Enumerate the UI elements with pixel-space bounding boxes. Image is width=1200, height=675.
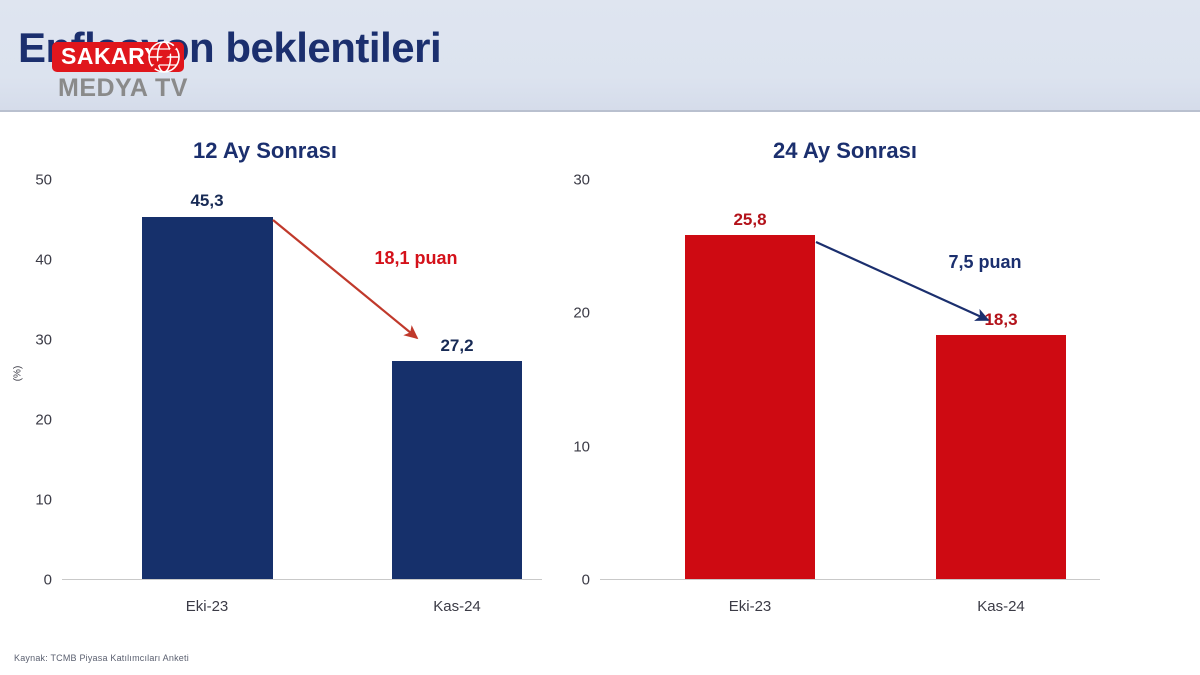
globe-icon: [144, 38, 184, 78]
x-axis-line-right: [600, 579, 1100, 580]
x-tick-eki-23-left: Eki-23: [186, 598, 229, 615]
delta-label-right: 7,5 puan: [948, 252, 1021, 273]
charts-container: 12 Ay Sonrası (%) 0 10 20 30 40 50 45,3 …: [0, 112, 1200, 642]
x-tick-kas-24-left: Kas-24: [433, 598, 481, 615]
bar-kas-24-right[interactable]: [936, 335, 1066, 579]
y-tick-label: 30: [573, 172, 590, 189]
x-tick-eki-23-right: Eki-23: [729, 598, 772, 615]
y-tick-label: 20: [573, 305, 590, 322]
delta-label-left: 18,1 puan: [374, 248, 457, 269]
bar-eki-23-right[interactable]: [685, 235, 815, 579]
x-axis-line-left: [62, 579, 542, 580]
bar-kas-24-left[interactable]: [392, 361, 522, 579]
bar-value-eki-23-left: 45,3: [190, 191, 223, 211]
watermark-subtitle: MEDYA TV: [58, 76, 188, 101]
y-tick-label: 0: [44, 572, 52, 589]
bar-value-kas-24-left: 27,2: [440, 336, 473, 356]
chart-title-left: 12 Ay Sonrası: [0, 138, 580, 164]
source-footnote: Kaynak: TCMB Piyasa Katılımcıları Anketi: [14, 653, 189, 663]
chart-title-right: 24 Ay Sonrası: [580, 138, 1200, 164]
y-tick-label: 30: [35, 332, 52, 349]
y-tick-label: 10: [35, 492, 52, 509]
bar-eki-23-left[interactable]: [142, 217, 273, 579]
plot-area-left: (%) 0 10 20 30 40 50 45,3 27,2 Eki-23 Ka…: [62, 180, 542, 580]
x-tick-kas-24-right: Kas-24: [977, 598, 1025, 615]
chart-panel-24-ay: 24 Ay Sonrası 0 10 20 30 25,8 18,3 Eki-2…: [580, 112, 1200, 642]
y-axis-unit-left: (%): [12, 366, 23, 382]
y-tick-label: 40: [35, 252, 52, 269]
y-tick-label: 0: [582, 572, 590, 589]
bar-value-eki-23-right: 25,8: [733, 210, 766, 230]
bar-value-kas-24-right: 18,3: [984, 310, 1017, 330]
chart-panel-12-ay: 12 Ay Sonrası (%) 0 10 20 30 40 50 45,3 …: [0, 112, 580, 642]
y-tick-label: 10: [573, 438, 590, 455]
plot-area-right: 0 10 20 30 25,8 18,3 Eki-23 Kas-24 7,5 p…: [600, 180, 1100, 580]
y-tick-label: 50: [35, 172, 52, 189]
y-tick-label: 20: [35, 412, 52, 429]
watermark-logo: SAKARYA MEDYA TV: [52, 42, 232, 104]
